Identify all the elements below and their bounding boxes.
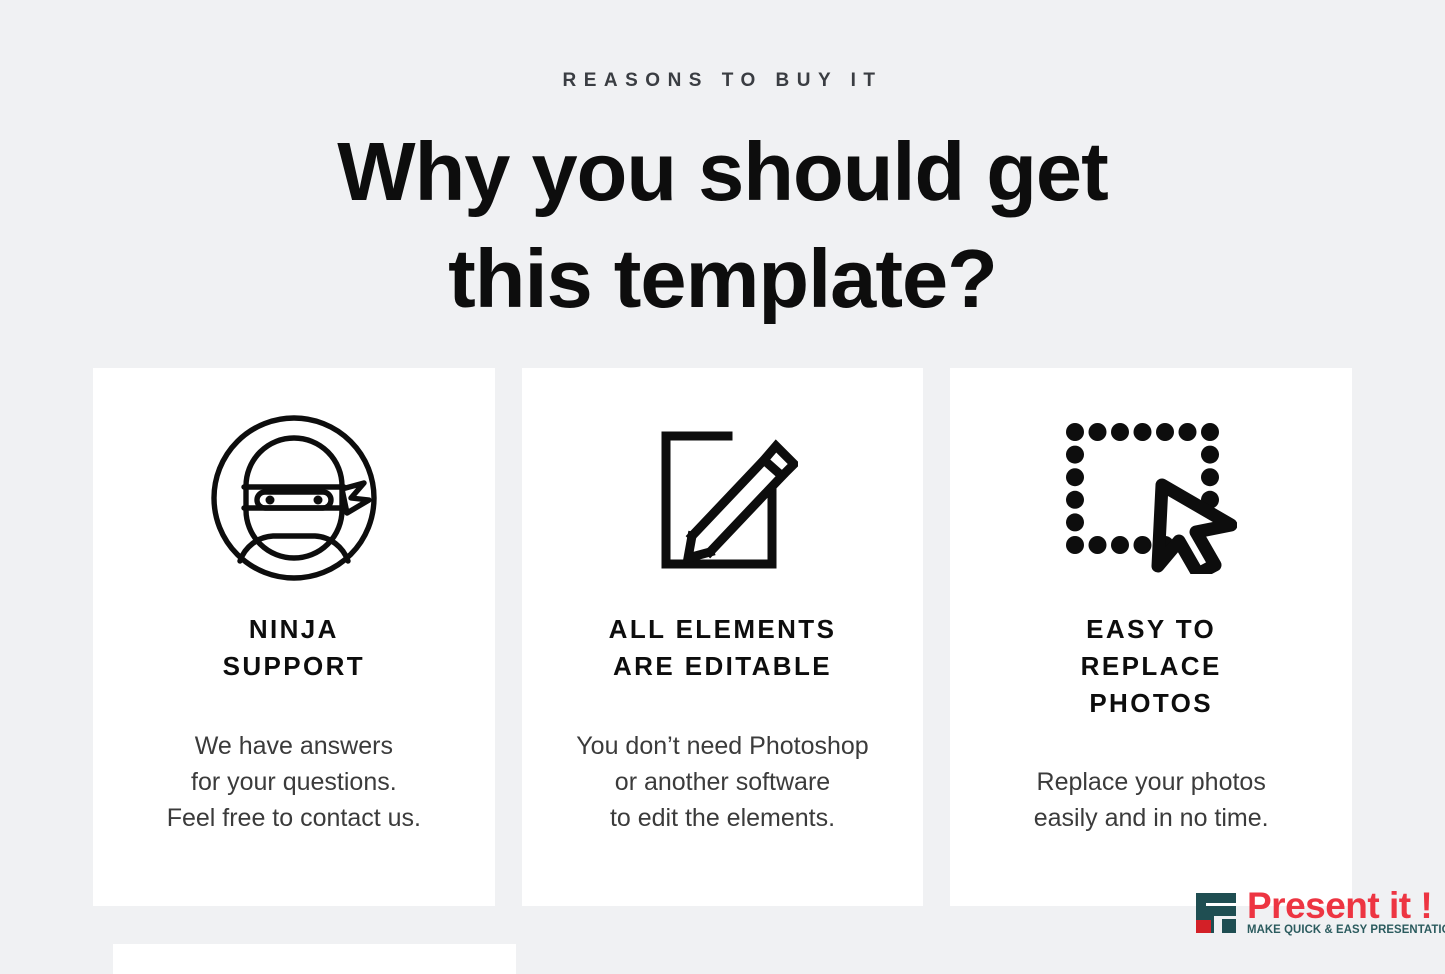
page-title: Why you should get this template? <box>0 118 1445 332</box>
feature-card-title: EASY TO REPLACE PHOTOS <box>950 611 1352 722</box>
body-line-2: for your questions. <box>93 764 495 800</box>
title-line-2: REPLACE <box>950 648 1352 685</box>
slide-canvas: REASONS TO BUY IT Why you should get thi… <box>0 0 1445 964</box>
logo-wordmark: Present it ! <box>1247 888 1445 923</box>
feature-card-title: ALL ELEMENTS ARE EDITABLE <box>522 611 924 685</box>
selection-cursor-icon <box>950 410 1352 585</box>
brand-logo: Present it ! MAKE QUICK & EASY PRESENTAT… <box>1192 884 1430 942</box>
ninja-support-icon <box>93 410 495 585</box>
feature-card-all-elements-editable[interactable]: ALL ELEMENTS ARE EDITABLE You don’t need… <box>522 368 924 906</box>
headline-line-1: Why you should get <box>0 118 1445 225</box>
title-line-2: ARE EDITABLE <box>522 648 924 685</box>
logo-tagline: MAKE QUICK & EASY PRESENTATIONS <box>1247 923 1445 937</box>
body-line-1: Replace your photos <box>950 764 1352 800</box>
title-line-1: NINJA <box>93 611 495 648</box>
feature-card-body: You don’t need Photoshop or another soft… <box>522 728 924 836</box>
headline-line-2: this template? <box>0 225 1445 332</box>
feature-card-list: NINJA SUPPORT We have answers for your q… <box>93 368 1352 906</box>
edit-document-pencil-icon <box>522 410 924 585</box>
feature-card-title: NINJA SUPPORT <box>93 611 495 685</box>
body-line-2: easily and in no time. <box>950 800 1352 836</box>
body-line-3: to edit the elements. <box>522 800 924 836</box>
logo-text-block: Present it ! MAKE QUICK & EASY PRESENTAT… <box>1247 888 1445 938</box>
body-line-1: We have answers <box>93 728 495 764</box>
feature-card-body: We have answers for your questions. Feel… <box>93 728 495 836</box>
title-line-3: PHOTOS <box>950 685 1352 722</box>
feature-card-body: Replace your photos easily and in no tim… <box>950 764 1352 836</box>
body-line-1: You don’t need Photoshop <box>522 728 924 764</box>
body-line-3: Feel free to contact us. <box>93 800 495 836</box>
title-line-1: EASY TO <box>950 611 1352 648</box>
title-line-2: SUPPORT <box>93 648 495 685</box>
eyebrow-label: REASONS TO BUY IT <box>0 70 1445 92</box>
next-card-preview <box>113 944 516 974</box>
bar-chart-logo-mark <box>1192 889 1240 937</box>
feature-card-ninja-support[interactable]: NINJA SUPPORT We have answers for your q… <box>93 368 495 906</box>
title-line-1: ALL ELEMENTS <box>522 611 924 648</box>
body-line-2: or another software <box>522 764 924 800</box>
feature-card-easy-replace-photos[interactable]: EASY TO REPLACE PHOTOS Replace your phot… <box>950 368 1352 906</box>
